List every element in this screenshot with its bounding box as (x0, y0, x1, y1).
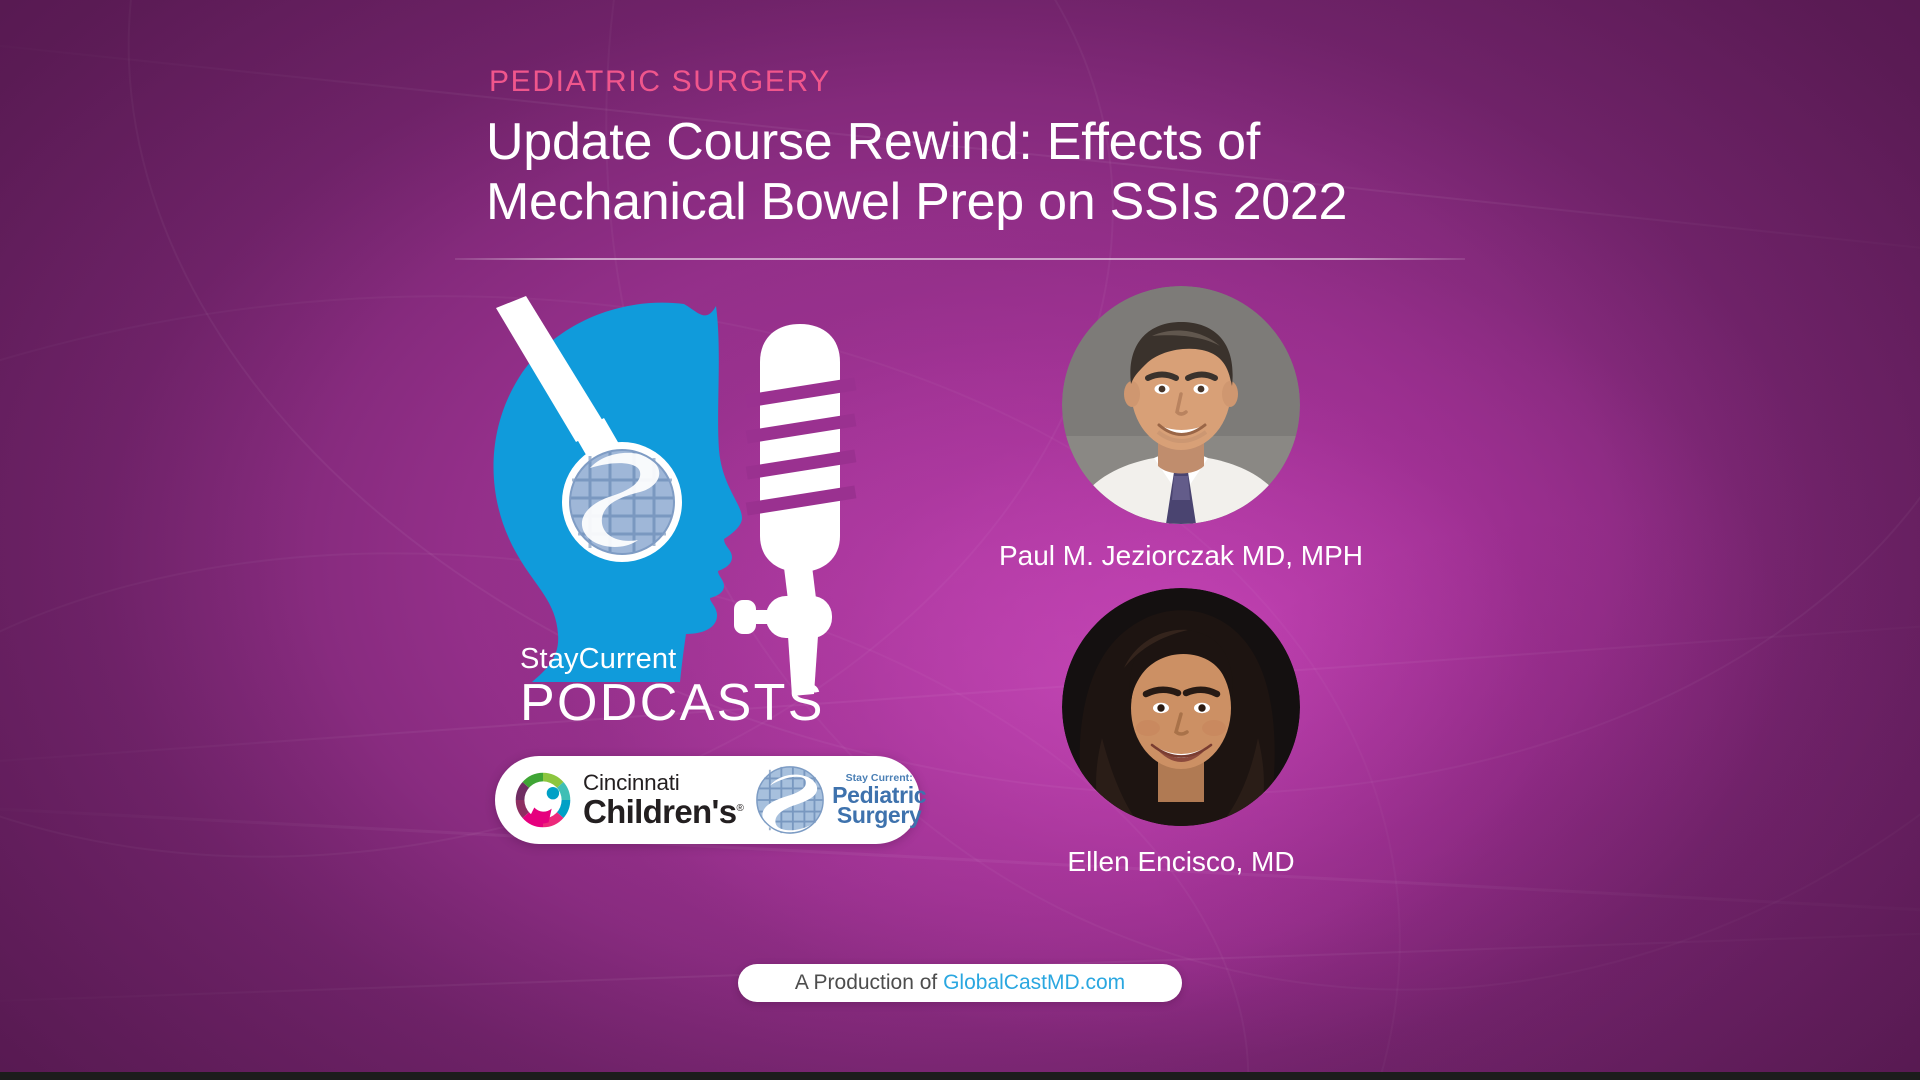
headshot-photo (1062, 588, 1300, 826)
speaker-card: Ellen Encisco, MD (1062, 588, 1300, 826)
production-credit-pill: A Production of GlobalCastMD.com (738, 964, 1182, 1002)
registered-trademark-icon: ® (736, 803, 743, 814)
bottom-letterbox-bar (0, 1072, 1920, 1080)
cincinnati-childrens-wordmark: Cincinnati Children's® (583, 772, 743, 829)
cchmc-line-2: Children's® (583, 795, 743, 828)
page-title: Update Course Rewind: Effects of Mechani… (486, 112, 1486, 233)
production-credit-text: A Production of GlobalCastMD.com (795, 971, 1125, 995)
microphone-icon (734, 324, 856, 696)
background-band (0, 606, 1920, 775)
headshot-photo (1062, 286, 1300, 524)
avatar (1062, 286, 1300, 524)
cchmc-line-1: Cincinnati (583, 772, 743, 795)
header-divider (455, 258, 1465, 260)
podcast-logo-line-2: PODCASTS (520, 676, 825, 731)
stay-current-pediatric-surgery-wordmark: Stay Current: Pediatric Surgery (832, 773, 926, 828)
podcast-logo-line-1: StayCurrent (520, 645, 825, 674)
avatar (1062, 588, 1300, 826)
cincinnati-childrens-logo-pill: Cincinnati Children's® Stay Current: Ped… (495, 756, 920, 844)
speaker-card: Paul M. Jeziorczak MD, MPH (1062, 286, 1300, 524)
podcast-logo-text: StayCurrent PODCASTS (520, 645, 825, 731)
speaker-name: Paul M. Jeziorczak MD, MPH (901, 540, 1461, 572)
presentation-slide: PEDIATRIC SURGERY Update Course Rewind: … (0, 0, 1920, 1080)
production-credit-prefix: A Production of (795, 971, 943, 994)
microphone-mount-arm (752, 610, 776, 624)
cincinnati-childrens-pinwheel-icon (512, 769, 574, 831)
stay-current-globe-icon (754, 764, 826, 836)
category-eyebrow: PEDIATRIC SURGERY (489, 65, 831, 99)
page-title-line-2: Mechanical Bowel Prep on SSIs 2022 (486, 172, 1486, 232)
globalcastmd-link[interactable]: GlobalCastMD.com (943, 971, 1125, 994)
staycurrent-podcasts-logo: StayCurrent PODCASTS (470, 290, 950, 710)
program-line-2: Surgery (832, 804, 926, 827)
page-title-line-1: Update Course Rewind: Effects of (486, 112, 1486, 172)
cchmc-line-2-text: Children's (583, 793, 736, 830)
speaker-name: Ellen Encisco, MD (901, 846, 1461, 878)
